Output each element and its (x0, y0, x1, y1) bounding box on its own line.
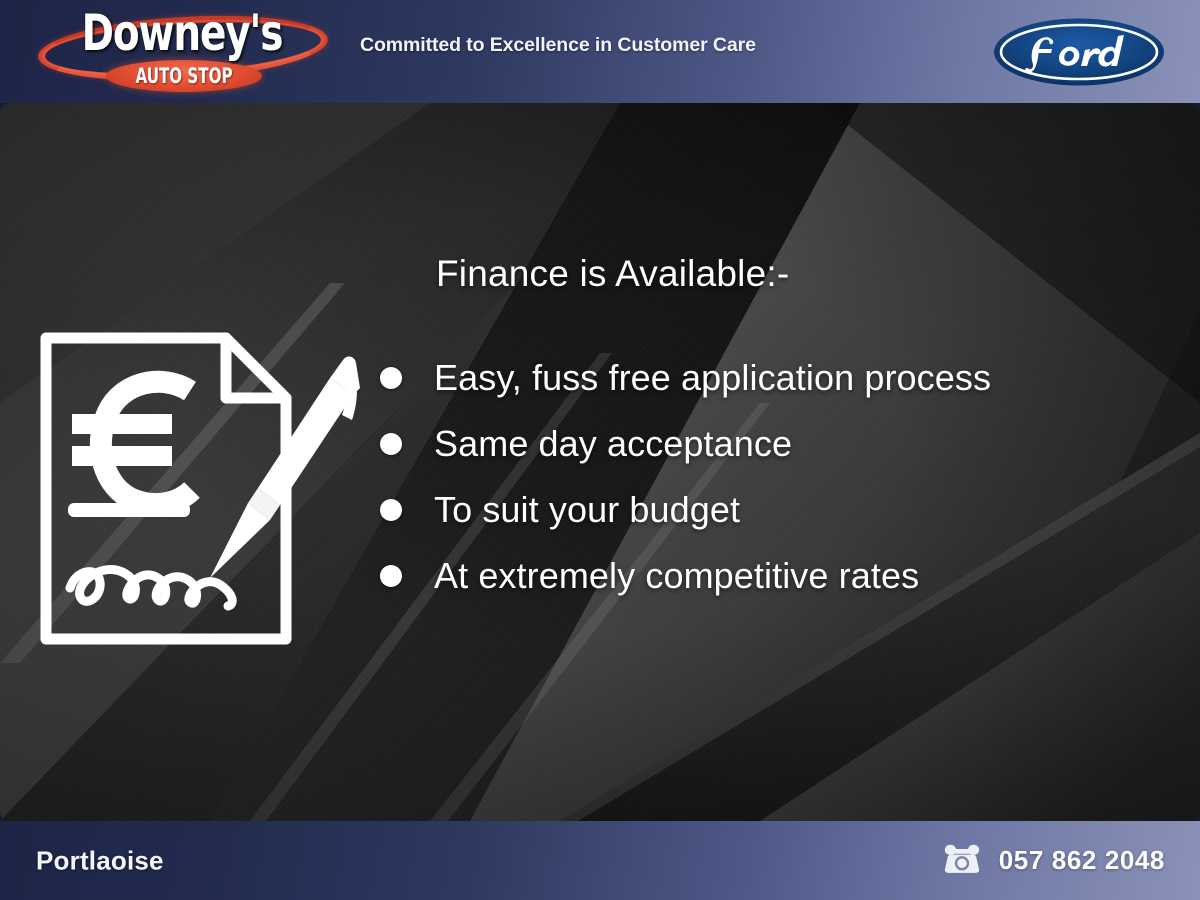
list-item-label: Easy, fuss free application process (434, 357, 991, 399)
phone-number-text: 057 862 2048 (999, 845, 1165, 876)
finance-document-euro-pen-icon (30, 316, 375, 661)
bullet-dot-icon (380, 499, 402, 521)
list-item-label: To suit your budget (434, 489, 740, 531)
telephone-icon (941, 843, 983, 879)
list-item-label: Same day acceptance (434, 423, 792, 465)
downeys-auto-stop-logo[interactable]: Downey's AUTO STOP (32, 4, 332, 98)
brand-sub-text: AUTO STOP (128, 65, 240, 87)
bullet-dot-icon (380, 433, 402, 455)
bullet-dot-icon (380, 565, 402, 587)
header-bar: Downey's AUTO STOP Committed to Excellen… (0, 0, 1200, 103)
list-item: Easy, fuss free application process (368, 345, 1168, 411)
tagline-text: Committed to Excellence in Customer Care (360, 34, 756, 57)
finance-promo-banner: Downey's AUTO STOP Committed to Excellen… (0, 0, 1200, 900)
bullet-dot-icon (380, 367, 402, 389)
promo-card: Finance is Available:- Easy, fuss free a… (0, 103, 1200, 821)
contact-phone[interactable]: 057 862 2048 (941, 843, 1165, 879)
list-item: To suit your budget (368, 477, 1168, 543)
page-title: Finance is Available:- (436, 253, 1168, 295)
list-item: Same day acceptance (368, 411, 1168, 477)
footer-bar: Portlaoise 057 862 2048 (0, 821, 1200, 900)
list-item: At extremely competitive rates (368, 543, 1168, 609)
benefits-list: Easy, fuss free application process Same… (368, 345, 1168, 609)
brand-name-text: Downey's (65, 4, 299, 62)
promo-copy: Finance is Available:- Easy, fuss free a… (368, 253, 1168, 609)
ford-oval-logo[interactable] (993, 18, 1165, 86)
list-item-label: At extremely competitive rates (434, 555, 919, 597)
dealer-location-label: Portlaoise (36, 845, 164, 876)
